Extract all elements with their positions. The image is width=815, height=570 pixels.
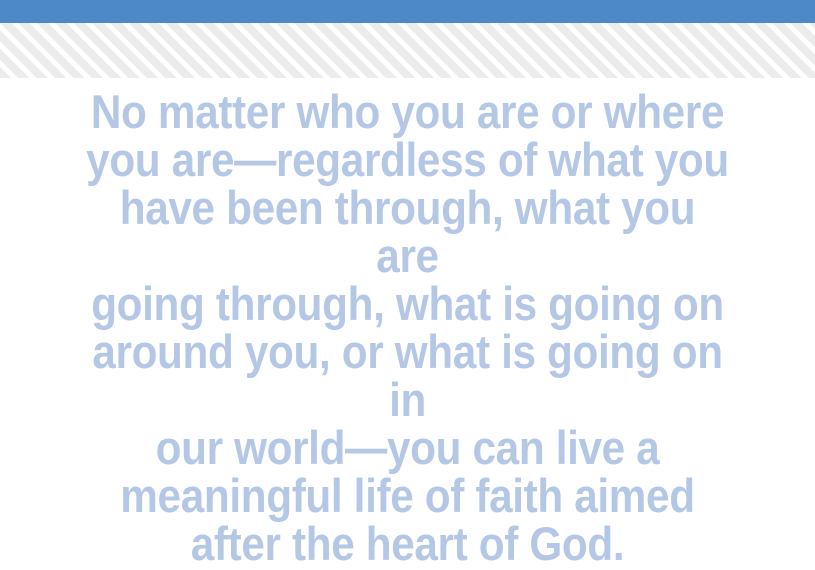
stripe-pattern-svg: [0, 23, 815, 78]
quote-text: No matter who you are or where you are—r…: [86, 88, 730, 568]
slide-canvas: No matter who you are or where you are—r…: [0, 0, 815, 516]
top-accent-bar: [0, 0, 815, 23]
diagonal-stripe-band: [0, 23, 815, 78]
quote-block: No matter who you are or where you are—r…: [50, 88, 765, 568]
